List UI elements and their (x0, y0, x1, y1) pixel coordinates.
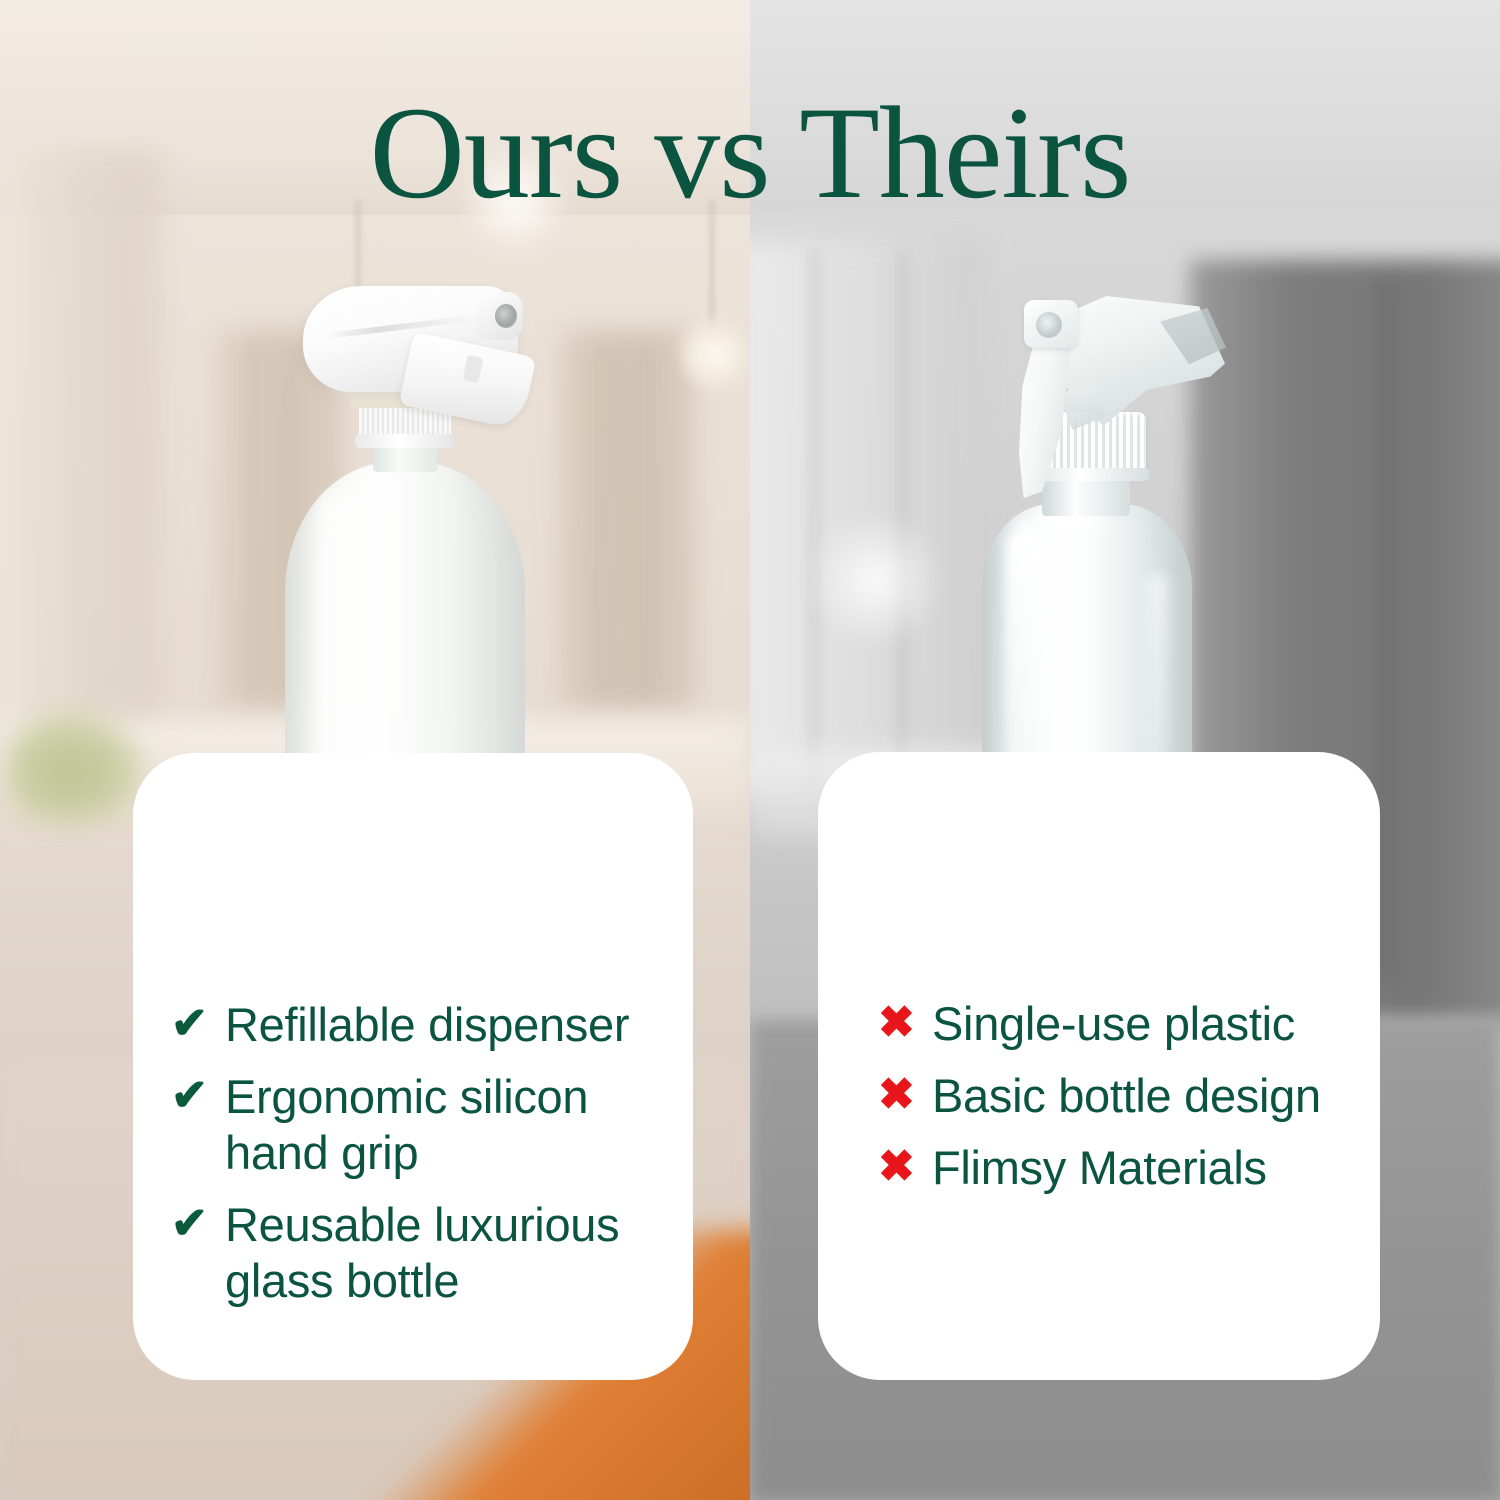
check-icon: ✔ (171, 1197, 225, 1251)
feature-card-theirs: ✖ Single-use plastic ✖ Basic bottle desi… (818, 752, 1380, 1380)
list-item: ✔ Refillable dispenser (171, 997, 663, 1053)
list-item: ✖ Single-use plastic (878, 996, 1352, 1052)
bottle-shoulder-highlight-theirs (1012, 512, 1108, 544)
cabinet-line-1 (250, 340, 254, 700)
list-item: ✔ Reusable luxurious glass bottle (171, 1197, 663, 1309)
sprayer-nozzle-hole-theirs (1036, 312, 1062, 338)
sprayer-nozzle-hole-ours (495, 304, 517, 328)
page-title: Ours vs Theirs (0, 86, 1500, 221)
check-icon: ✔ (171, 1069, 225, 1123)
feature-text: Flimsy Materials (932, 1140, 1267, 1196)
pendant-light-2 (672, 318, 750, 390)
feature-list-theirs: ✖ Single-use plastic ✖ Basic bottle desi… (818, 752, 1380, 1380)
cross-icon: ✖ (878, 996, 932, 1050)
list-item: ✖ Basic bottle design (878, 1068, 1352, 1124)
wall-panel-edge (1382, 280, 1390, 980)
cabinet-line-3 (600, 340, 604, 700)
feature-text: Basic bottle design (932, 1068, 1321, 1124)
feature-list-ours: ✔ Refillable dispenser ✔ Ergonomic silic… (133, 753, 693, 1380)
list-item: ✖ Flimsy Materials (878, 1140, 1352, 1196)
feature-text: Refillable dispenser (225, 997, 629, 1053)
plant-blur (5, 705, 150, 825)
list-item: ✔ Ergonomic silicon hand grip (171, 1069, 663, 1181)
feature-card-ours: ✔ Refillable dispenser ✔ Ergonomic silic… (133, 753, 693, 1380)
window-glow-gray (805, 510, 945, 650)
check-icon: ✔ (171, 997, 225, 1051)
sprayer-collar-lip-ours (355, 434, 455, 448)
cross-icon: ✖ (878, 1068, 932, 1122)
feature-text: Reusable luxurious glass bottle (225, 1197, 655, 1309)
cross-icon: ✖ (878, 1140, 932, 1194)
feature-text: Single-use plastic (932, 996, 1295, 1052)
feature-text: Ergonomic silicon hand grip (225, 1069, 655, 1181)
cabinet-left (0, 150, 160, 770)
cabinet-line-4 (645, 340, 649, 700)
comparison-graphic: Ours vs Theirs (0, 0, 1500, 1500)
